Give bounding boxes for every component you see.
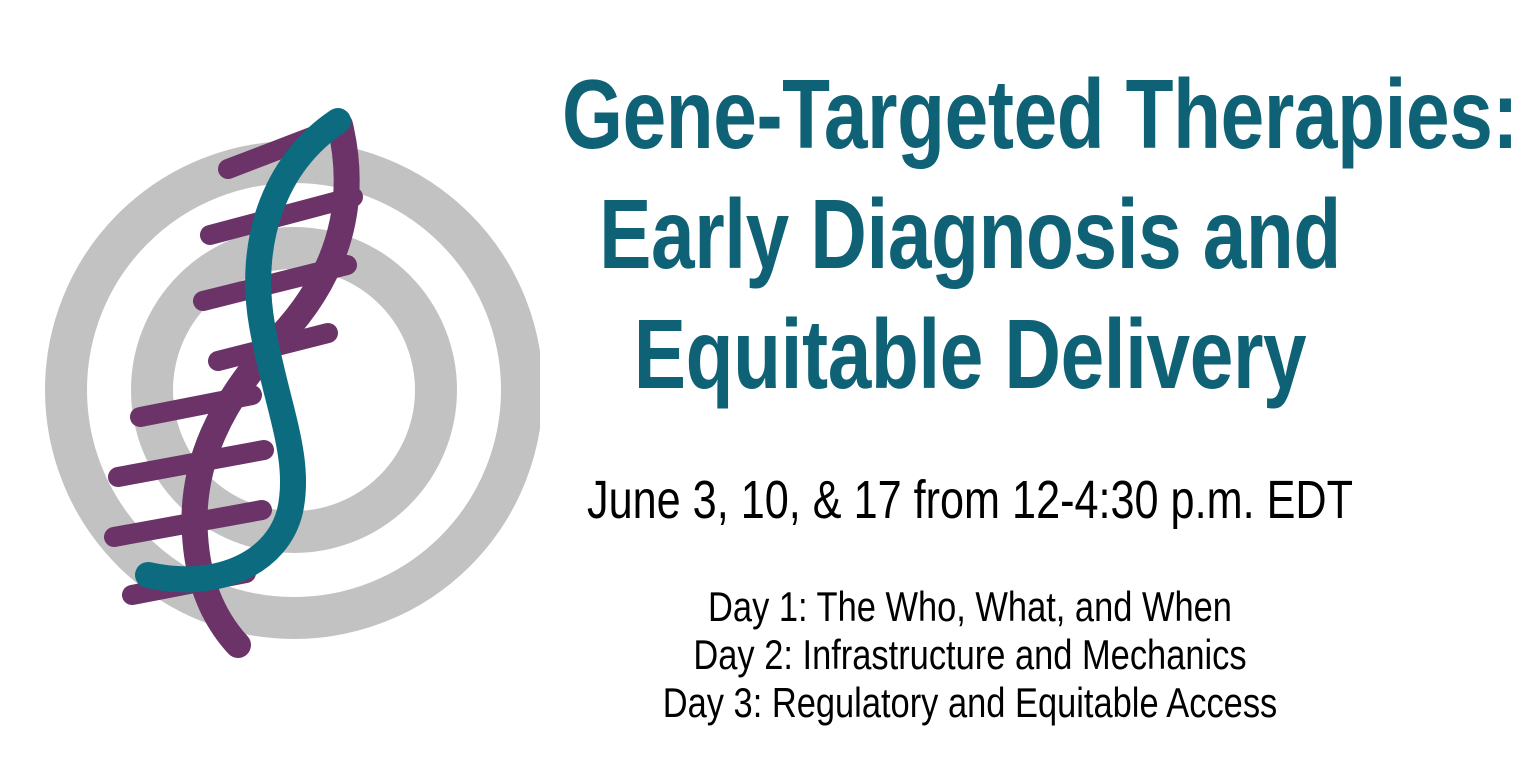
banner-text-block: Gene-Targeted Therapies: Early Diagnosis… <box>460 30 1480 740</box>
event-date-time: June 3, 10, & 17 from 12-4:30 p.m. EDT <box>562 469 1378 531</box>
event-title-line-3: Equitable Delivery <box>562 294 1378 414</box>
agenda-list: Day 1: The Who, What, and When Day 2: In… <box>460 583 1480 727</box>
agenda-day-3: Day 3: Regulatory and Equitable Access <box>552 679 1388 727</box>
event-title-line-2: Early Diagnosis and <box>562 174 1378 294</box>
event-title-line-1: Gene-Targeted Therapies: <box>562 54 1378 174</box>
event-banner: Gene-Targeted Therapies: Early Diagnosis… <box>0 0 1536 768</box>
agenda-day-2: Day 2: Infrastructure and Mechanics <box>552 631 1388 679</box>
agenda-day-1: Day 1: The Who, What, and When <box>552 583 1388 631</box>
target-rings-group <box>66 162 522 618</box>
